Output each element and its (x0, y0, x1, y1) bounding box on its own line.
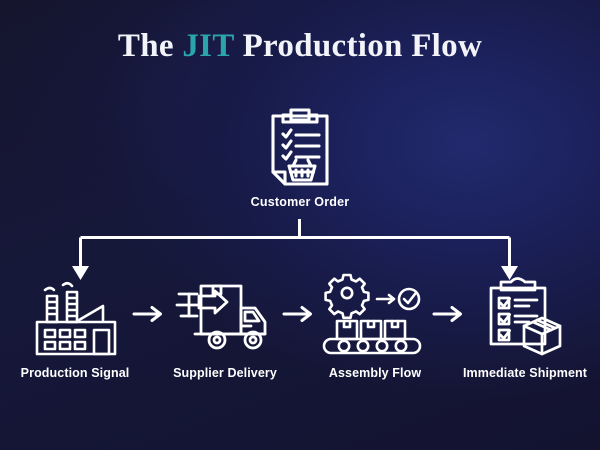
arrow-supplier-to-assembly (278, 268, 322, 360)
infographic-canvas: The JIT Production Flow (0, 0, 600, 450)
delivery-truck-icon (175, 268, 275, 360)
clipboard-checkboxes-parcel-icon (479, 268, 571, 360)
factory-icon (29, 268, 121, 360)
arrow-assembly-to-shipment (428, 268, 472, 360)
stage-label: Assembly Flow (329, 366, 421, 380)
clipboard-checklist-basket-icon (263, 104, 337, 188)
conveyor-belt-gear-check-icon (323, 268, 427, 360)
arrow-production-to-supplier (128, 268, 172, 360)
stage-production-signal: Production Signal (22, 268, 128, 380)
stage-assembly-flow: Assembly Flow (322, 268, 428, 380)
customer-order-node: Customer Order (0, 104, 600, 209)
stage-row: Production Signal (0, 268, 600, 380)
stage-immediate-shipment: Immediate Shipment (472, 268, 578, 380)
stage-label: Supplier Delivery (173, 366, 277, 380)
customer-order-label: Customer Order (251, 195, 350, 209)
stage-label: Production Signal (21, 366, 130, 380)
stage-supplier-delivery: Supplier Delivery (172, 268, 278, 380)
connector-bracket (0, 0, 600, 450)
stage-label: Immediate Shipment (463, 366, 587, 380)
